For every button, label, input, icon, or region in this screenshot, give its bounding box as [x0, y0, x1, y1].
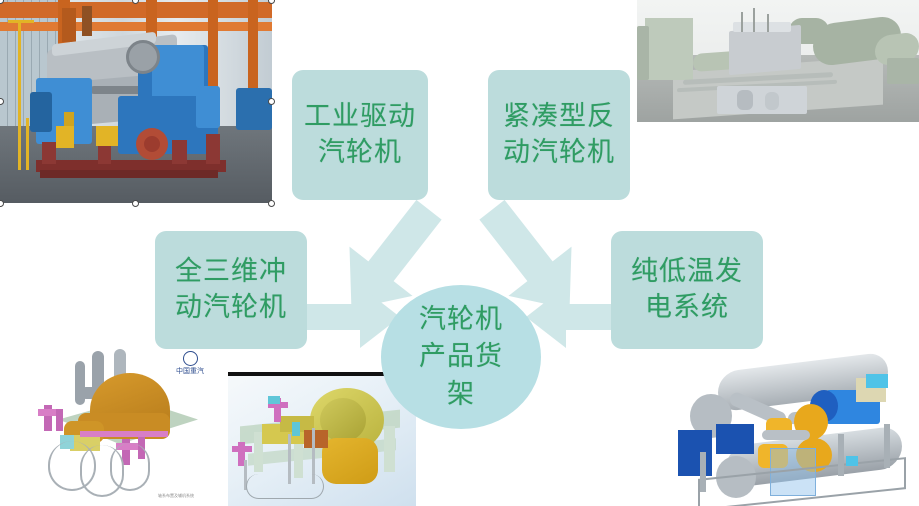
photo-orc-skid[interactable] [670, 352, 915, 506]
cad2-platform-leg-4 [384, 426, 395, 472]
crane-rail [62, 8, 76, 42]
plant-aux-skid [717, 86, 807, 114]
selection-handle-br[interactable] [268, 200, 275, 207]
cad1-condensate-loop-3 [110, 443, 150, 491]
orc-skid-cross-beam-2 [838, 434, 844, 476]
node-label-line: 汽轮机 [304, 135, 416, 171]
machine-red-leg-4 [206, 134, 220, 164]
safety-rail-top [8, 20, 34, 23]
cad2-condensate-loop [246, 474, 324, 499]
turbine-far-unit [236, 88, 272, 130]
arrow-from-low-temp-system [524, 286, 624, 348]
plant-aux-tank-2 [765, 92, 779, 110]
turbine-inlet-flange [126, 40, 160, 74]
photo-cad-yellow-turbine[interactable] [228, 372, 416, 506]
plant-stack-3 [767, 14, 769, 32]
node-label-line: 工业驱动 [304, 99, 416, 135]
overhead-crane-beam [0, 2, 272, 18]
node-label-line: 纯低温发 [631, 254, 743, 290]
cad1-support-spring-2 [56, 409, 63, 431]
orc-skid-cross-beam-1 [700, 452, 706, 492]
turbine-bearing-housing [30, 92, 52, 132]
hub-turbine-product-shelf[interactable]: 汽轮机 产品货 架 [381, 285, 541, 429]
node-label-line: 全三维冲 [175, 254, 287, 290]
cad2-inlet-nozzle-1 [268, 396, 280, 404]
machine-yellow-block-1 [56, 126, 74, 148]
plant-stack-1 [741, 12, 743, 32]
cad2-inlet-nozzle-2 [292, 422, 300, 436]
node-pure-low-temp-power-system[interactable]: 纯低温发 电系统 [611, 231, 763, 349]
node-compact-reaction-turbine-label: 紧凑型反 动汽轮机 [503, 99, 615, 170]
orc-expander-inlet-pipe [762, 430, 810, 440]
plant-aux-tank [737, 90, 753, 110]
crane-hoist [82, 6, 92, 36]
selection-handle-mr[interactable] [268, 98, 275, 105]
machine-yellow-block-3 [64, 112, 74, 126]
machine-red-leg-2 [98, 146, 111, 164]
plant-rear-block [887, 58, 919, 84]
overhead-crane-beam-2 [0, 22, 272, 31]
hub-label-line: 架 [419, 376, 503, 413]
plant-stack-2 [753, 8, 755, 32]
node-label-line: 动汽轮机 [503, 135, 615, 171]
node-full-3d-impulse-turbine-label: 全三维冲 动汽轮机 [175, 254, 287, 325]
node-compact-reaction-turbine[interactable]: 紧凑型反 动汽轮机 [488, 70, 630, 200]
node-full-3d-impulse-turbine[interactable]: 全三维冲 动汽轮机 [155, 231, 307, 349]
orc-skid-cross-beam-3 [884, 424, 890, 468]
cad1-steam-pipe-3 [75, 361, 85, 405]
hub-label-line: 产品货 [419, 338, 503, 375]
photo-plant-3d-render[interactable] [637, 0, 919, 122]
cad1-figure-caption: 轴系布置及辅机系统 [158, 493, 194, 499]
machine-red-leg-3 [172, 140, 187, 164]
hub-label-line: 汽轮机 [419, 301, 503, 338]
slide-canvas: 中国重汽 轴系布置及辅机系统 [0, 0, 919, 506]
plant-building-block [645, 18, 693, 80]
orc-control-cabinet-left [678, 430, 712, 476]
orc-sensor-block [846, 456, 858, 466]
selection-handle-tr[interactable] [268, 0, 275, 4]
hub-label: 汽轮机 产品货 架 [419, 301, 503, 413]
plant-hp-module [729, 25, 801, 75]
turbine-side-block [196, 86, 220, 128]
orc-junction-box [866, 374, 888, 388]
selection-handle-bm[interactable] [132, 200, 139, 207]
node-industrial-drive-turbine[interactable]: 工业驱动 汽轮机 [292, 70, 428, 200]
machine-yellow-block-2 [96, 126, 118, 146]
plant-building-block-side [637, 26, 649, 80]
company-logo: 中国重汽 [168, 351, 212, 376]
photo-workshop-blue-turbine[interactable] [0, 0, 272, 203]
photo-cad-gold-turbine[interactable]: 中国重汽 轴系布置及辅机系统 [18, 343, 218, 506]
company-logo-text: 中国重汽 [176, 367, 204, 375]
cad2-bearing-pedestal [304, 430, 328, 448]
selection-handle-bl[interactable] [0, 200, 4, 207]
machine-red-base-front [40, 170, 218, 178]
safety-rail [18, 20, 21, 170]
node-label-line: 电系统 [631, 290, 743, 326]
cad2-support-spring-1b [232, 446, 252, 452]
node-label-line: 动汽轮机 [175, 290, 287, 326]
cad1-casing-seal-band [80, 431, 168, 437]
node-label-line: 紧凑型反 [503, 99, 615, 135]
cad2-exhaust-hood [322, 438, 378, 484]
orc-control-cabinet-mid [716, 424, 754, 454]
machine-red-leg-1 [42, 142, 56, 164]
node-pure-low-temp-power-system-label: 纯低温发 电系统 [631, 254, 743, 325]
node-industrial-drive-turbine-label: 工业驱动 汽轮机 [304, 99, 416, 170]
turbine-rotor-hub [144, 136, 160, 152]
safety-rail-2 [26, 118, 29, 170]
